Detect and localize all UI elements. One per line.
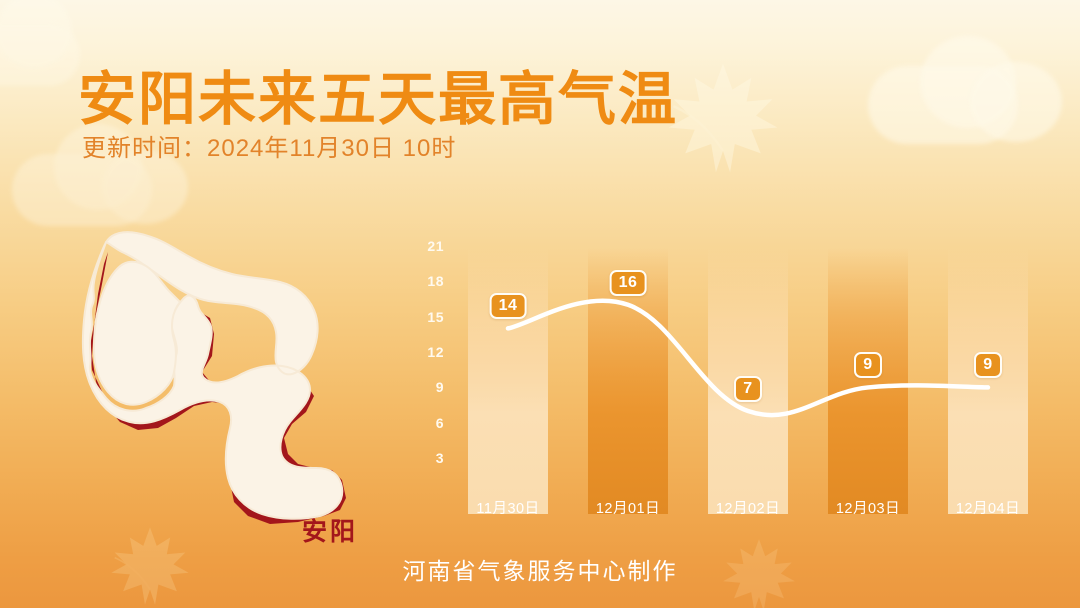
map-land-layer — [83, 232, 342, 519]
x-axis-tick: 12月04日 — [928, 497, 1048, 518]
cloud-decoration-top-right — [858, 18, 1058, 148]
value-badge: 9 — [854, 352, 882, 378]
value-badge: 7 — [734, 376, 762, 402]
value-badge: 16 — [610, 270, 647, 296]
temperature-chart: 21181512963 1416799 11月30日12月01日12月02日12… — [412, 214, 1012, 514]
weather-forecast-card: 安阳未来五天最高气温 更新时间：2024年11月30日 10时 安阳 21181… — [0, 0, 1080, 608]
page-title: 安阳未来五天最高气温 — [78, 52, 678, 136]
x-axis-tick: 12月03日 — [808, 497, 928, 518]
anyang-map: 安阳 — [62, 206, 402, 536]
temperature-line — [412, 214, 1012, 514]
footer-credit: 河南省气象服务中心制作 — [0, 552, 1080, 586]
x-axis: 11月30日12月01日12月02日12月03日12月04日 — [412, 492, 1012, 518]
update-time-text: 更新时间：2024年11月30日 10时 — [82, 128, 456, 163]
x-axis-tick: 12月02日 — [688, 497, 808, 518]
value-badge: 14 — [490, 293, 527, 319]
map-region-label: 安阳 — [302, 512, 358, 548]
value-badge: 9 — [974, 352, 1002, 378]
x-axis-tick: 12月01日 — [568, 497, 688, 518]
x-axis-tick: 11月30日 — [448, 497, 568, 518]
maple-leaf-icon — [664, 58, 782, 178]
